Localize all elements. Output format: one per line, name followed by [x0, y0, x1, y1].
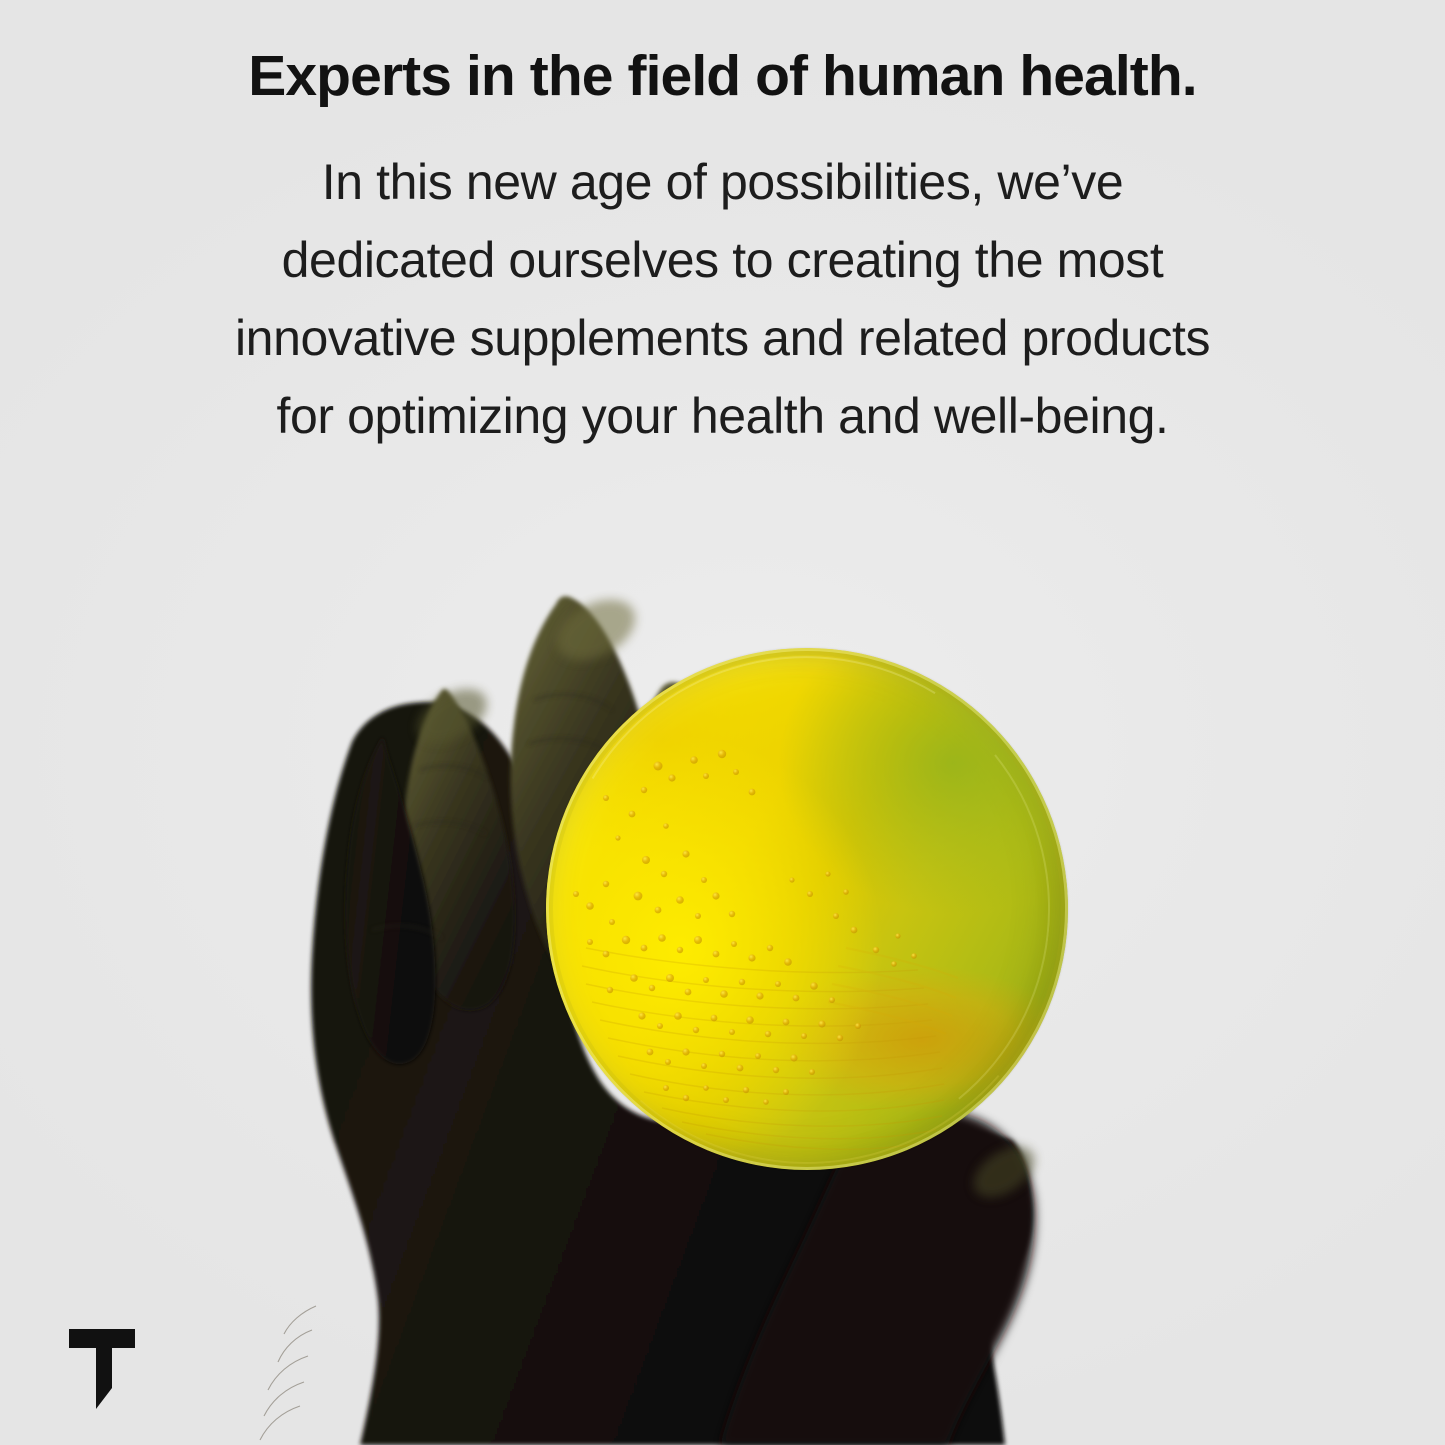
brand-logo-t [66, 1326, 138, 1412]
product-photograph [0, 0, 1445, 1445]
dish-rim-highlight [546, 648, 1068, 1170]
poster-canvas: Experts in the field of human health. In… [0, 0, 1445, 1445]
agar-petri-dish [546, 648, 1068, 1170]
dish-agar-surface [546, 648, 1068, 1170]
